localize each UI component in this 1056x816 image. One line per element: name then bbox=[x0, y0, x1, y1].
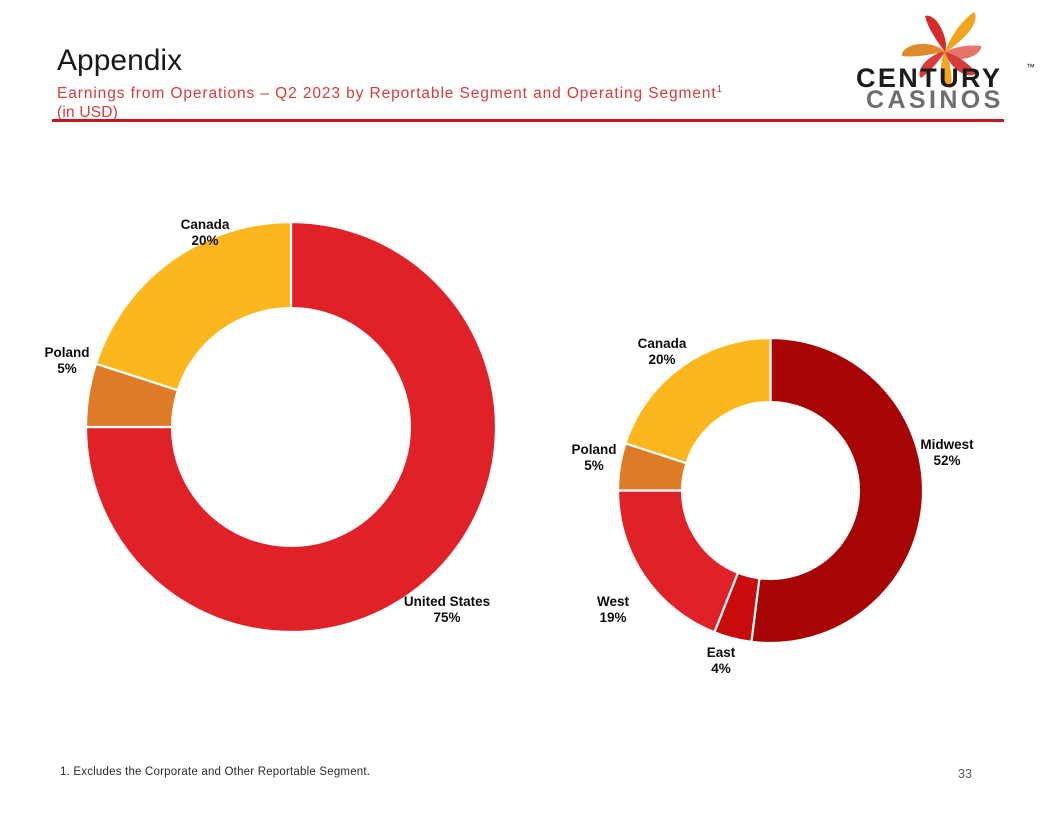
chart2-label-canada-value: 20% bbox=[614, 352, 710, 368]
chart2-label-poland-name: Poland bbox=[571, 442, 616, 457]
chart2-label-midwest-name: Midwest bbox=[920, 437, 973, 452]
chart2-label-west-value: 19% bbox=[570, 610, 656, 626]
chart1-label-poland-name: Poland bbox=[44, 345, 89, 360]
chart2-label-west-name: West bbox=[597, 594, 629, 609]
donut-chart-operating-segment bbox=[618, 338, 923, 643]
chart2-label-canada: Canada 20% bbox=[614, 336, 710, 368]
chart1-label-canada-name: Canada bbox=[181, 217, 230, 232]
chart2-label-canada-name: Canada bbox=[638, 336, 687, 351]
slide-subtitle: Earnings from Operations – Q2 2023 by Re… bbox=[57, 80, 817, 122]
trademark-symbol: ™ bbox=[1026, 62, 1035, 72]
slide-header: Appendix Earnings from Operations – Q2 2… bbox=[0, 0, 1056, 130]
donut-chart-reportable-segment bbox=[86, 222, 496, 632]
page-title: Appendix bbox=[57, 44, 182, 78]
subtitle-text: Earnings from Operations – Q2 2023 by Re… bbox=[57, 85, 717, 102]
chart2-label-east: East 4% bbox=[678, 645, 764, 677]
chart1-label-united-states: United States 75% bbox=[378, 594, 516, 626]
chart2-label-midwest-value: 52% bbox=[895, 453, 999, 469]
chart2-label-midwest: Midwest 52% bbox=[895, 437, 999, 469]
donut-chart-2-svg bbox=[618, 338, 923, 643]
svg-text:CASINOS: CASINOS bbox=[866, 86, 1004, 112]
chart1-label-united-states-value: 75% bbox=[378, 610, 516, 626]
chart1-label-poland: Poland 5% bbox=[22, 345, 112, 377]
donut-slice-midwest bbox=[751, 338, 923, 643]
chart2-label-poland-value: 5% bbox=[549, 458, 639, 474]
chart2-label-east-value: 4% bbox=[678, 661, 764, 677]
chart1-label-canada: Canada 20% bbox=[150, 217, 260, 249]
chart2-label-east-name: East bbox=[707, 645, 736, 660]
chart2-label-poland: Poland 5% bbox=[549, 442, 639, 474]
donut-chart-1-svg bbox=[86, 222, 496, 632]
chart1-label-united-states-name: United States bbox=[404, 594, 490, 609]
footnote-text: 1. Excludes the Corporate and Other Repo… bbox=[60, 766, 370, 778]
header-divider bbox=[52, 119, 1004, 122]
century-casinos-logo: CENTURY CASINOS ™ bbox=[850, 4, 1040, 112]
subtitle-line-1: Earnings from Operations – Q2 2023 by Re… bbox=[57, 80, 817, 103]
chart1-label-poland-value: 5% bbox=[22, 361, 112, 377]
logo-wordmark-sub: CASINOS bbox=[866, 86, 1004, 112]
chart1-label-canada-value: 20% bbox=[150, 233, 260, 249]
footnote-marker: 1 bbox=[717, 84, 723, 95]
page-number: 33 bbox=[958, 767, 972, 781]
chart2-label-west: West 19% bbox=[570, 594, 656, 626]
